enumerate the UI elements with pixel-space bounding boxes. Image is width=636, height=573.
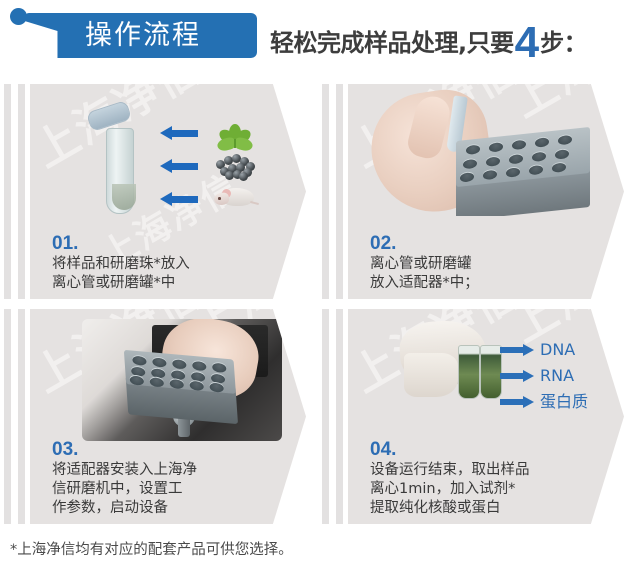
decorative-bar (336, 84, 343, 299)
step-line: 放入适配器*中； (370, 274, 620, 293)
output-arrow-icon (500, 344, 534, 356)
step-line: 信研磨机中，设置工 (52, 480, 302, 499)
decorative-bar (4, 84, 11, 299)
output-row-dna: DNA (500, 341, 575, 359)
grinding-beads-icon (214, 152, 254, 178)
step-number: 01. (52, 233, 302, 254)
tagline-post: 步： (540, 26, 587, 60)
decorative-bar (322, 309, 329, 524)
step-caption-03: 03. 将适配器安装入上海净 信研磨机中，设置工 作参数，启动设备 (52, 439, 302, 518)
step-chevron-04: 上海净信 上海净信 DNA RNA (348, 309, 624, 524)
header: 操作流程 轻松完成样品处理,只要 4 步： (0, 0, 636, 72)
header-tagline: 轻松完成样品处理,只要 4 步： (270, 14, 587, 60)
output-label: DNA (540, 341, 575, 359)
sample-vial-icon (480, 345, 502, 399)
decorative-bar (336, 309, 343, 524)
steps-grid: 上海净信 上海净信 (0, 80, 636, 530)
step-line: 设备运行结束，取出样品 (370, 461, 624, 480)
output-arrow-icon (500, 396, 534, 408)
step-line: 提取纯化核酸或蛋白 (370, 499, 624, 518)
tagline-step-count: 4 (515, 23, 539, 63)
step-caption-02: 02. 离心管或研磨罐 放入适配器*中； (370, 233, 620, 293)
output-row-rna: RNA (500, 367, 574, 385)
output-arrow-icon (500, 370, 534, 382)
step-line: 将适配器安装入上海净 (52, 461, 302, 480)
step-card-03: 上海净信 上海净信 (0, 305, 318, 530)
tagline-pre: 轻松完成样品处理,只要 (270, 26, 514, 60)
step-card-04: 上海净信 上海净信 DNA RNA (318, 305, 636, 530)
leaf-sample-icon (216, 114, 250, 144)
process-flow-infographic: 操作流程 轻松完成样品处理,只要 4 步： 上海净信 上海净信 (0, 0, 636, 573)
step-number: 02. (370, 233, 620, 254)
step-chevron-01: 上海净信 上海净信 (30, 84, 306, 299)
adapter-block-icon (124, 350, 238, 426)
step-line: 离心管或研磨罐*中 (52, 274, 302, 293)
output-label: 蛋白质 (540, 393, 588, 411)
centrifuge-tube-icon (102, 106, 134, 214)
step-chevron-02: 上海净信 上海净信 (348, 84, 624, 299)
adapter-block-icon (456, 127, 590, 216)
adapter-loading-photo (370, 88, 596, 216)
step-line: 离心管或研磨罐 (370, 255, 620, 274)
footer-note: *上海净信均有对应的配套产品可供您选择。 (10, 538, 610, 562)
decorative-bar (4, 309, 11, 524)
step-card-01: 上海净信 上海净信 (0, 80, 318, 305)
banner-dot-icon (10, 8, 27, 25)
section-title: 操作流程 (85, 17, 255, 55)
decorative-bar (18, 84, 25, 299)
step-caption-01: 01. 将样品和研磨珠*放入 离心管或研磨罐*中 (52, 233, 302, 293)
decorative-bar (322, 84, 329, 299)
grinder-loading-photo (82, 319, 282, 441)
step-number: 04. (370, 439, 624, 460)
input-arrow-icon (160, 192, 198, 206)
sample-vial-icon (458, 345, 480, 399)
step-line: 将样品和研磨珠*放入 (52, 255, 302, 274)
decorative-bar (18, 309, 25, 524)
step-line: 作参数，启动设备 (52, 499, 302, 518)
output-label: RNA (540, 367, 574, 385)
step-chevron-03: 上海净信 上海净信 (30, 309, 306, 524)
input-arrow-icon (160, 126, 198, 140)
output-row-protein: 蛋白质 (500, 393, 588, 411)
input-arrow-icon (160, 159, 198, 173)
step-number: 03. (52, 439, 302, 460)
step-caption-04: 04. 设备运行结束，取出样品 离心1min，加入试剂* 提取纯化核酸或蛋白 (370, 439, 624, 518)
step-card-02: 上海净信 上海净信 (318, 80, 636, 305)
mouse-sample-icon (214, 184, 258, 210)
step-line: 离心1min，加入试剂* (370, 480, 624, 499)
